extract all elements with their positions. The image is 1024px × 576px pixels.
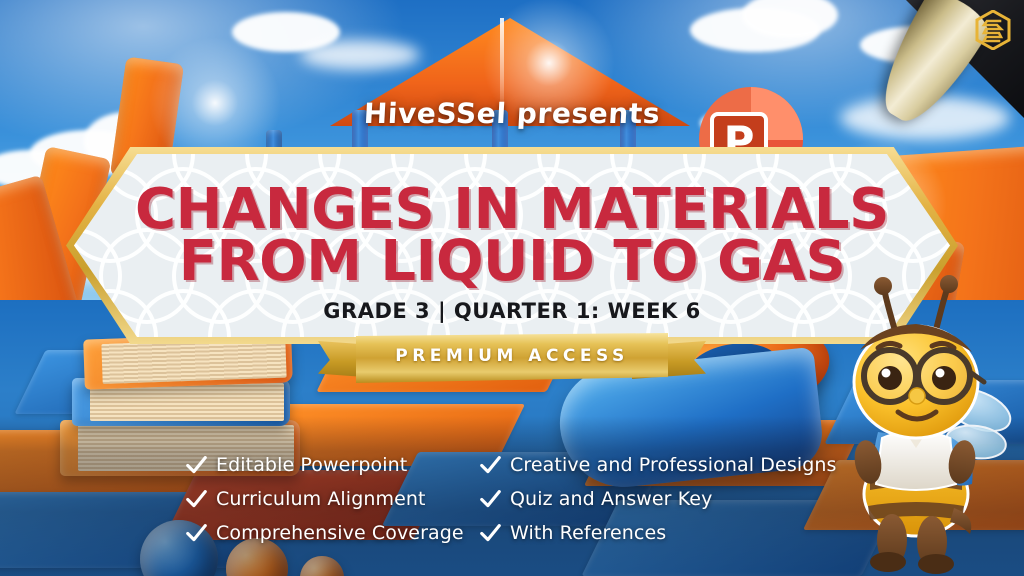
feature-item: Quiz and Answer Key — [480, 482, 837, 516]
title-line-2: FROM LIQUID TO GAS — [74, 236, 950, 288]
presents-line: HiveSSel presents — [0, 97, 1024, 130]
ribbon-label: PREMIUM ACCESS — [334, 346, 690, 366]
feature-column-left: Editable Powerpoint Curriculum Alignment… — [186, 448, 464, 550]
check-icon — [480, 489, 501, 510]
feature-item: With References — [480, 516, 837, 550]
title-block: CHANGES IN MATERIALS FROM LIQUID TO GAS — [74, 184, 950, 288]
feature-label: Editable Powerpoint — [216, 454, 407, 476]
check-icon — [186, 455, 207, 476]
feature-item: Curriculum Alignment — [186, 482, 464, 516]
feature-label: Quiz and Answer Key — [510, 488, 712, 510]
check-icon — [480, 455, 501, 476]
check-icon — [186, 523, 207, 544]
feature-item: Comprehensive Coverage — [186, 516, 464, 550]
feature-column-right: Creative and Professional Designs Quiz a… — [480, 448, 837, 550]
feature-item: Creative and Professional Designs — [480, 448, 837, 482]
presentation-slide: HiveSSel presents P — [0, 0, 1024, 576]
check-icon — [480, 523, 501, 544]
feature-item: Editable Powerpoint — [186, 448, 464, 482]
premium-access-ribbon: PREMIUM ACCESS — [334, 333, 690, 387]
feature-label: Creative and Professional Designs — [510, 454, 837, 476]
feature-label: Curriculum Alignment — [216, 488, 426, 510]
feature-label: Comprehensive Coverage — [216, 522, 464, 544]
cloud — [300, 40, 420, 70]
check-icon — [186, 489, 207, 510]
bee-mascot — [826, 272, 1024, 576]
feature-label: With References — [510, 522, 666, 544]
hivessel-hex-logo-icon — [975, 10, 1011, 50]
